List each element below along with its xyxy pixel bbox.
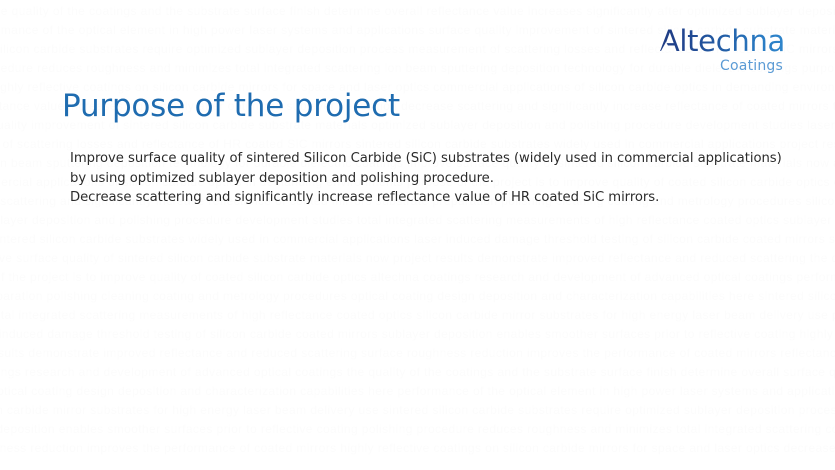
watermark-row: purpose of the project is to improve qua… (0, 270, 779, 284)
watermark-row: improve surface quality of sintered sili… (0, 251, 802, 265)
watermark-row: silicon carbide mirror substrates for hi… (0, 403, 802, 417)
watermark-row: total integrated scattering measurements… (0, 308, 825, 322)
altechna-coatings-logo: Altechna Coatings (655, 26, 785, 80)
watermark-row: altechna coatings research and developme… (0, 365, 756, 379)
body-line: Improve surface quality of sintered Sili… (70, 149, 800, 169)
logo-mountain-icon (661, 42, 671, 51)
watermark-row: sublayer deposition enables smoother sur… (0, 422, 779, 436)
body-line: Decrease scattering and significantly in… (70, 188, 800, 208)
body-line: by using optimized sublayer deposition a… (70, 169, 800, 189)
watermark-row: the quality of the coatings and the subs… (0, 4, 825, 18)
logo-wordmark-text: Altechna (655, 26, 785, 57)
logo-subtext: Coatings (655, 58, 785, 75)
watermark-row: substrate preparation polishing cleaning… (0, 289, 756, 303)
watermark-row: project results demonstrate improved ref… (0, 346, 779, 360)
watermark-row: polishing procedure reduces roughness an… (0, 61, 756, 75)
presentation-slide: the quality of the coatings and the subs… (0, 0, 835, 470)
watermark-row: sintered silicon carbide substrates wide… (0, 232, 825, 246)
watermark-row: laser induced damage threshold testing o… (0, 327, 802, 341)
watermark-row: optimized sublayer deposition and polish… (0, 213, 756, 227)
slide-body-text: Improve surface quality of sintered Sili… (70, 149, 800, 208)
page-title: Purpose of the project (62, 86, 400, 126)
watermark-row: optical coating design deposition and ch… (0, 384, 825, 398)
watermark-row: surface roughness reduction improves the… (0, 441, 756, 455)
